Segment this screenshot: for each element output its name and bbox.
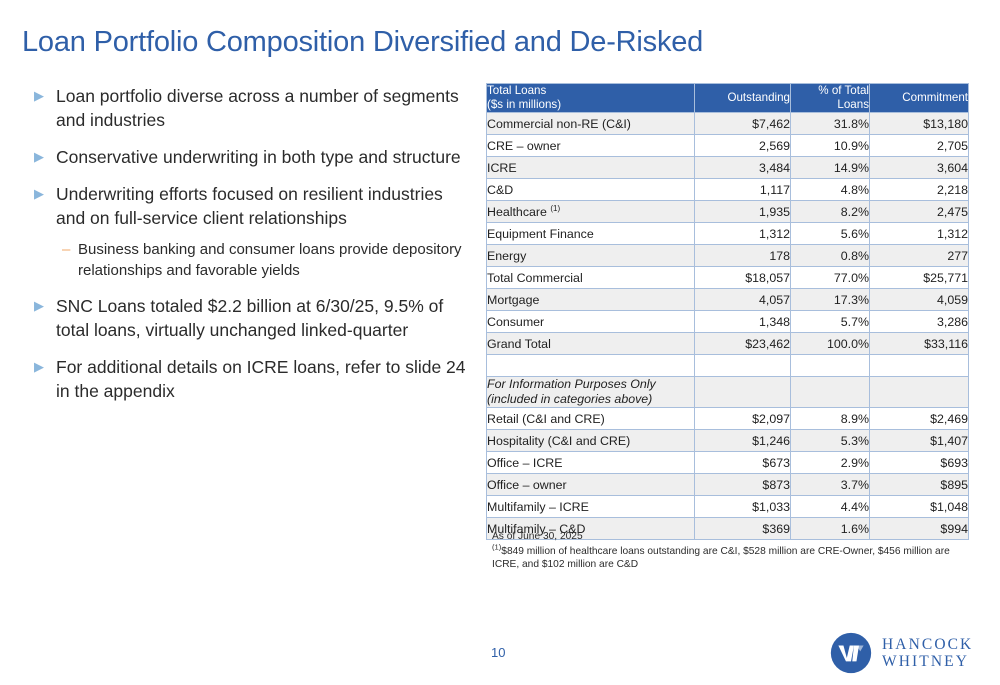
row-pct-of-total: 5.6% [791, 223, 870, 245]
row-outstanding: 4,057 [695, 289, 791, 311]
row-label: ICRE [487, 157, 695, 179]
brand-wordmark: HANCOCK WHITNEY [882, 636, 973, 670]
bullet-item: ▶Conservative underwriting in both type … [34, 145, 474, 169]
hancock-whitney-logo: HANCOCK WHITNEY [830, 632, 973, 674]
row-label: C&D [487, 179, 695, 201]
sub-bullet-item: –Business banking and consumer loans pro… [62, 239, 474, 281]
page-number: 10 [491, 645, 505, 660]
row-outstanding: $23,462 [695, 333, 791, 355]
row-pct-of-total: 14.9% [791, 157, 870, 179]
row-commitment: $693 [870, 452, 969, 474]
row-label: Multifamily – ICRE [487, 496, 695, 518]
brand-line-1: HANCOCK [882, 636, 973, 653]
bullet-item: ▶For additional details on ICRE loans, r… [34, 355, 474, 403]
row-label-text: Total Commercial [487, 271, 583, 285]
row-commitment: 3,286 [870, 311, 969, 333]
row-outstanding: $1,033 [695, 496, 791, 518]
bullet-item: ▶Underwriting efforts focused on resilie… [34, 182, 474, 230]
header-cell-outstanding: Outstanding [695, 84, 791, 113]
row-label-text: CRE – owner [487, 139, 561, 153]
row-pct-of-total: 4.4% [791, 496, 870, 518]
footnote-text: $849 million of healthcare loans outstan… [492, 546, 950, 571]
row-outstanding: 3,484 [695, 157, 791, 179]
row-label: Equipment Finance [487, 223, 695, 245]
row-commitment: $13,180 [870, 113, 969, 135]
row-outstanding: $673 [695, 452, 791, 474]
row-label: Total Commercial [487, 267, 695, 289]
table-row: Total Commercial$18,05777.0%$25,771 [487, 267, 969, 289]
page-title: Loan Portfolio Composition Diversified a… [22, 26, 703, 59]
row-label-text: Mortgage [487, 293, 539, 307]
info-section-header-row: For Information Purposes Only(included i… [487, 377, 969, 408]
triangle-bullet-icon: ▶ [34, 294, 56, 318]
triangle-bullet-icon: ▶ [34, 84, 56, 108]
row-commitment: $2,469 [870, 408, 969, 430]
row-pct-of-total: 100.0% [791, 333, 870, 355]
table-spacer-row [487, 355, 969, 377]
row-label-text: Healthcare [487, 205, 547, 219]
row-commitment: 2,475 [870, 201, 969, 223]
row-label: Healthcare (1) [487, 201, 695, 223]
row-commitment: $1,048 [870, 496, 969, 518]
bullet-item: ▶Loan portfolio diverse across a number … [34, 84, 474, 132]
info-label-line2: (included in categories above) [487, 392, 694, 407]
row-pct-of-total: 31.8% [791, 113, 870, 135]
row-pct-of-total: 8.2% [791, 201, 870, 223]
table-row: Office – owner$8733.7%$895 [487, 474, 969, 496]
row-pct-of-total: 3.7% [791, 474, 870, 496]
row-outstanding: $2,097 [695, 408, 791, 430]
row-label: Mortgage [487, 289, 695, 311]
footnote-marker: (1) [492, 542, 501, 551]
bullet-text: For additional details on ICRE loans, re… [56, 355, 474, 403]
info-section-label: For Information Purposes Only(included i… [487, 377, 695, 408]
row-label: Energy [487, 245, 695, 267]
spacer-cell [695, 355, 791, 377]
row-outstanding: 178 [695, 245, 791, 267]
row-pct-of-total: 2.9% [791, 452, 870, 474]
table-header: Total Loans ($s in millions) Outstanding… [487, 84, 969, 113]
row-label: Grand Total [487, 333, 695, 355]
row-pct-of-total: 8.9% [791, 408, 870, 430]
row-pct-of-total: 0.8% [791, 245, 870, 267]
row-outstanding: 1,117 [695, 179, 791, 201]
footnote-1: (1)$849 million of healthcare loans outs… [492, 545, 962, 572]
header-label-line2: ($s in millions) [487, 98, 694, 112]
row-label-text: Consumer [487, 315, 544, 329]
bullet-text: Loan portfolio diverse across a number o… [56, 84, 474, 132]
table-row: Energy1780.8%277 [487, 245, 969, 267]
row-commitment: 3,604 [870, 157, 969, 179]
info-empty-cell [791, 377, 870, 408]
spacer-cell [791, 355, 870, 377]
row-label: Consumer [487, 311, 695, 333]
row-outstanding: $18,057 [695, 267, 791, 289]
table-row: Commercial non-RE (C&I)$7,46231.8%$13,18… [487, 113, 969, 135]
row-commitment: $895 [870, 474, 969, 496]
row-outstanding: $873 [695, 474, 791, 496]
header-commitment-label: Commitment [870, 91, 968, 105]
row-pct-of-total: 10.9% [791, 135, 870, 157]
row-label: Retail (C&I and CRE) [487, 408, 695, 430]
row-commitment: $25,771 [870, 267, 969, 289]
row-commitment: 2,705 [870, 135, 969, 157]
brand-line-2: WHITNEY [882, 653, 973, 670]
spacer-cell [870, 355, 969, 377]
header-pct-line2: Loans [791, 98, 869, 112]
table-body: Commercial non-RE (C&I)$7,46231.8%$13,18… [487, 113, 969, 540]
info-empty-cell [695, 377, 791, 408]
row-commitment: 277 [870, 245, 969, 267]
header-cell-pct-of-total-loans: % of Total Loans [791, 84, 870, 113]
row-pct-of-total: 17.3% [791, 289, 870, 311]
bullet-text: SNC Loans totaled $2.2 billion at 6/30/2… [56, 294, 474, 342]
row-outstanding: 1,312 [695, 223, 791, 245]
table-row: Healthcare (1)1,9358.2%2,475 [487, 201, 969, 223]
row-label: CRE – owner [487, 135, 695, 157]
row-label-text: Grand Total [487, 337, 551, 351]
header-outstanding-label: Outstanding [695, 91, 790, 105]
row-label-text: C&D [487, 183, 513, 197]
table-row: Grand Total$23,462100.0%$33,116 [487, 333, 969, 355]
spacer-cell [487, 355, 695, 377]
table-row: Hospitality (C&I and CRE)$1,2465.3%$1,40… [487, 430, 969, 452]
triangle-bullet-icon: ▶ [34, 145, 56, 169]
row-commitment: 4,059 [870, 289, 969, 311]
row-label: Hospitality (C&I and CRE) [487, 430, 695, 452]
row-pct-of-total: 77.0% [791, 267, 870, 289]
footnote-as-of: As of June 30, 2025 [492, 530, 962, 544]
header-label-line1: Total Loans [487, 84, 694, 98]
triangle-bullet-icon: ▶ [34, 355, 56, 379]
bullet-text: Business banking and consumer loans prov… [78, 239, 474, 281]
footnotes: As of June 30, 2025 (1)$849 million of h… [492, 530, 962, 572]
row-outstanding: $7,462 [695, 113, 791, 135]
row-outstanding: 1,348 [695, 311, 791, 333]
row-pct-of-total: 4.8% [791, 179, 870, 201]
row-label: Commercial non-RE (C&I) [487, 113, 695, 135]
row-commitment: 2,218 [870, 179, 969, 201]
row-commitment: 1,312 [870, 223, 969, 245]
table-header-row: Total Loans ($s in millions) Outstanding… [487, 84, 969, 113]
table-row: Equipment Finance1,3125.6%1,312 [487, 223, 969, 245]
row-outstanding: 2,569 [695, 135, 791, 157]
dash-bullet-icon: – [62, 239, 78, 260]
triangle-bullet-icon: ▶ [34, 182, 56, 206]
loan-composition-table: Total Loans ($s in millions) Outstanding… [486, 83, 969, 540]
row-pct-of-total: 5.7% [791, 311, 870, 333]
table-row: Mortgage4,05717.3%4,059 [487, 289, 969, 311]
row-footnote-marker: (1) [550, 203, 560, 212]
row-label-text: Equipment Finance [487, 227, 594, 241]
table-row: CRE – owner2,56910.9%2,705 [487, 135, 969, 157]
row-commitment: $1,407 [870, 430, 969, 452]
table-row: Office – ICRE$6732.9%$693 [487, 452, 969, 474]
row-label-text: ICRE [487, 161, 517, 175]
row-outstanding: 1,935 [695, 201, 791, 223]
table-row: Multifamily – ICRE$1,0334.4%$1,048 [487, 496, 969, 518]
header-pct-line1: % of Total [791, 84, 869, 98]
row-label-text: Commercial non-RE (C&I) [487, 117, 631, 131]
header-cell-commitment: Commitment [870, 84, 969, 113]
bullet-text: Underwriting efforts focused on resilien… [56, 182, 474, 230]
table-row: Consumer1,3485.7%3,286 [487, 311, 969, 333]
bullet-text: Conservative underwriting in both type a… [56, 145, 474, 169]
bullet-item: ▶SNC Loans totaled $2.2 billion at 6/30/… [34, 294, 474, 342]
row-label: Office – owner [487, 474, 695, 496]
table-row: C&D1,1174.8%2,218 [487, 179, 969, 201]
info-empty-cell [870, 377, 969, 408]
header-cell-total-loans: Total Loans ($s in millions) [487, 84, 695, 113]
info-label-line1: For Information Purposes Only [487, 377, 694, 392]
table-row: Retail (C&I and CRE)$2,0978.9%$2,469 [487, 408, 969, 430]
bullet-list: ▶Loan portfolio diverse across a number … [34, 84, 474, 416]
row-label: Office – ICRE [487, 452, 695, 474]
row-pct-of-total: 5.3% [791, 430, 870, 452]
row-commitment: $33,116 [870, 333, 969, 355]
table-row: ICRE3,48414.9%3,604 [487, 157, 969, 179]
hancock-whitney-mark-icon [830, 632, 872, 674]
row-outstanding: $1,246 [695, 430, 791, 452]
row-label-text: Energy [487, 249, 526, 263]
